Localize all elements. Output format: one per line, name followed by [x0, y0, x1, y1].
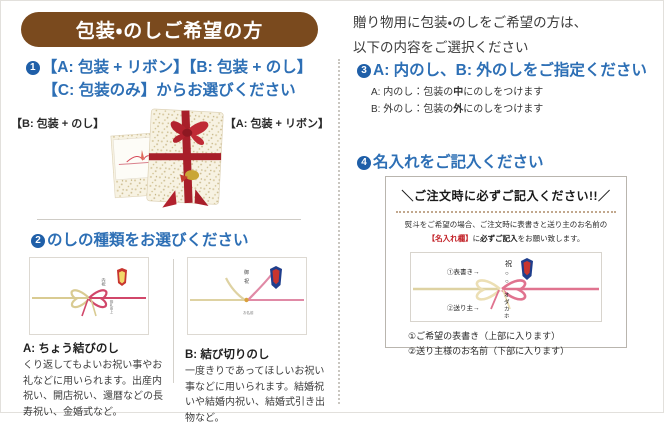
step-3-sub-a-post: にのしをつけます: [463, 87, 543, 98]
step-3-sub-a-pre: A: 内のし：包装の: [371, 87, 453, 98]
form-p2-end: をお願い致します。: [518, 234, 585, 243]
noshi-b-label: 御: [244, 269, 249, 276]
step-2-number: 2: [31, 234, 45, 248]
step-1-number: 1: [26, 61, 40, 75]
noshi-image-b: 御 祝 お名前: [187, 257, 307, 335]
left-divider: [37, 219, 301, 220]
form-dotted-divider: [396, 211, 616, 213]
step-4-heading-text: 名入れをご記入ください: [373, 154, 544, 171]
diagram-top-text: 祝: [505, 259, 512, 268]
svg-text:○: ○: [505, 279, 509, 285]
svg-text:お名前: お名前: [243, 310, 254, 315]
intro-text: 贈り物用に包装・のしをご希望の方は、 以下の内容をご選択ください: [353, 11, 653, 61]
gift-photo-block: 【B: 包装 + のし】 【A: 包装 + リボン】: [1, 105, 337, 215]
form-p2-mid: に: [473, 234, 481, 243]
page-title: 包装・のしご希望の方: [76, 16, 263, 43]
svg-text:ダ: ダ: [504, 298, 510, 306]
svg-text:カ: カ: [504, 306, 510, 313]
step-1-heading: 1【A: 包装 + リボン】【B: 包装 + のし】: [1, 56, 337, 79]
noshi-card-b-desc: 一度きりであってほしいお祝い事などに用いられます。結婚祝いや結婚内祝い、結婚式引…: [185, 364, 331, 426]
noshi-diagram: 祝 ○ ○ ①表書き→ オ ダ カ ホ ②送り主→: [410, 252, 602, 322]
svg-text:○: ○: [505, 271, 509, 277]
step-3-heading: 3A: 内のし、B: 外のしをご指定ください: [357, 59, 664, 82]
page-title-pill: 包装・のしご希望の方: [21, 12, 318, 47]
step-3-number: 3: [357, 64, 371, 78]
intro-line-1: 贈り物用に包装・のしをご希望の方は、: [353, 11, 653, 36]
step-3-sub-a-bold: 中: [453, 87, 463, 98]
page-root: 包装・のしご希望の方 1【A: 包装 + リボン】【B: 包装 + のし】 【C…: [0, 0, 664, 413]
form-paragraph-2: 【名入れ欄】に必ずご記入をお願い致します。: [386, 233, 626, 245]
column-divider: [338, 59, 340, 404]
noshi-a-col1: 内祝: [102, 277, 107, 287]
step-2-heading-text: のしの種類をお選びください: [47, 232, 249, 249]
photo-label-b: 【B: 包装 + のし】: [11, 115, 104, 131]
form-name-field-label: 【名入れ欄】: [428, 234, 473, 243]
svg-text:オ: オ: [504, 292, 510, 299]
step-4-number: 4: [357, 156, 371, 170]
noshi-image-a: 内祝 御礼申上: [29, 257, 149, 335]
step-1-line-2: 【C: 包装のみ】からお選びください: [1, 79, 337, 102]
photo-label-a: 【A: 包装 + リボン】: [225, 115, 329, 131]
form-p2-bold: 必ずご記入: [480, 234, 518, 243]
form-paragraph-1: 熨斗をご希望の場合、ご注文時に表書きと送り主のお名前の: [386, 219, 626, 231]
step-1-block: 1【A: 包装 + リボン】【B: 包装 + のし】 【C: 包装のみ】からお選…: [1, 56, 337, 103]
svg-text:祝: 祝: [244, 278, 249, 285]
gift-photo: [105, 105, 233, 215]
name-entry-form-box: ＼ご注文時に必ずご記入ください!!／ 熨斗をご希望の場合、ご注文時に表書きと送り…: [385, 176, 627, 348]
step-3-sub-b-pre: B: 外のし：包装の: [371, 104, 453, 115]
noshi-card-a[interactable]: 内祝 御礼申上: [21, 257, 171, 420]
form-banner: ＼ご注文時に必ずご記入ください!!／: [386, 187, 626, 204]
diagram-label-1: ①表書き→: [447, 267, 480, 276]
noshi-card-a-desc: くり返してもよいお祝い事やお礼などに用いられます。出産内祝い、開店祝い、還暦など…: [23, 358, 169, 420]
step-4-heading: 4名入れをご記入ください: [357, 151, 544, 174]
step-3-sub-b-post: にのしをつけます: [463, 104, 543, 115]
form-note-2: ②送り主様のお名前（下部に入ります）: [408, 344, 626, 359]
form-note-1: ①ご希望の表書き（上部に入ります）: [408, 329, 626, 344]
step-3-heading-text: A: 内のし、B: 外のしをご指定ください: [373, 62, 647, 79]
step-3-sub-a: A: 内のし：包装の中にのしをつけます: [371, 85, 664, 101]
step-1-line-2-wrap: 【C: 包装のみ】からお選びください: [1, 79, 337, 102]
diagram-label-2: ②送り主→: [447, 303, 480, 312]
svg-text:御礼申上: 御礼申上: [109, 299, 114, 314]
left-column: 包装・のしご希望の方 1【A: 包装 + リボン】【B: 包装 + のし】 【C…: [1, 1, 337, 414]
noshi-card-b-title: B: 結び切りのし: [185, 346, 333, 362]
svg-text:ホ: ホ: [504, 313, 510, 320]
step-2-heading: 2のしの種類をお選びください: [31, 229, 249, 252]
step-1-line-1: 【A: 包装 + リボン】【B: 包装 + のし】: [42, 59, 312, 76]
card-separator: [173, 259, 174, 383]
step-3-sub-b: B: 外のし：包装の外にのしをつけます: [371, 102, 664, 118]
step-3-sub-b-bold: 外: [453, 104, 463, 115]
right-column: 贈り物用に包装・のしをご希望の方は、 以下の内容をご選択ください 3A: 内のし…: [345, 1, 664, 414]
step-3-block: 3A: 内のし、B: 外のしをご指定ください A: 内のし：包装の中にのしをつけ…: [357, 59, 664, 118]
intro-line-2: 以下の内容をご選択ください: [353, 36, 653, 61]
noshi-card-b[interactable]: 御 祝 お名前 B: 結び切りのし: [183, 257, 333, 426]
noshi-card-a-title: A: ちょう結びのし: [23, 340, 171, 356]
noshi-card-list: 内祝 御礼申上: [1, 257, 337, 407]
